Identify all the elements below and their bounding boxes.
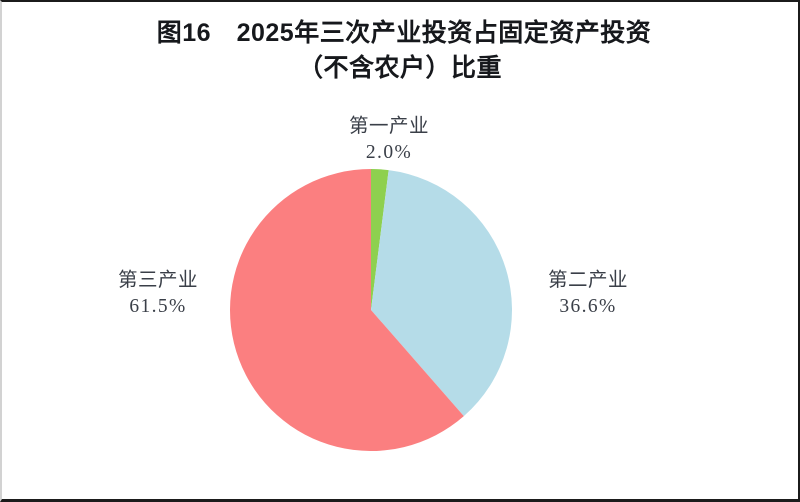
- chart-screenshot: 图16 2025年三次产业投资占固定资产投资 （不含农户）比重 第一产业 2.0…: [0, 0, 800, 502]
- pie-chart-svg: [2, 2, 798, 499]
- pie-label-tertiary: 第三产业 61.5%: [58, 268, 258, 320]
- pie-chart: 第一产业 2.0% 第二产业 36.6% 第三产业 61.5%: [2, 2, 798, 499]
- pie-label-secondary-value: 36.6%: [488, 294, 688, 320]
- pie-label-primary-name: 第一产业: [264, 114, 514, 140]
- pie-label-primary: 第一产业 2.0%: [264, 114, 514, 166]
- pie-slices: [230, 169, 512, 451]
- pie-label-tertiary-value: 61.5%: [58, 294, 258, 320]
- pie-label-primary-value: 2.0%: [264, 140, 514, 166]
- pie-label-secondary-name: 第二产业: [488, 268, 688, 294]
- pie-label-tertiary-name: 第三产业: [58, 268, 258, 294]
- pie-label-secondary: 第二产业 36.6%: [488, 268, 688, 320]
